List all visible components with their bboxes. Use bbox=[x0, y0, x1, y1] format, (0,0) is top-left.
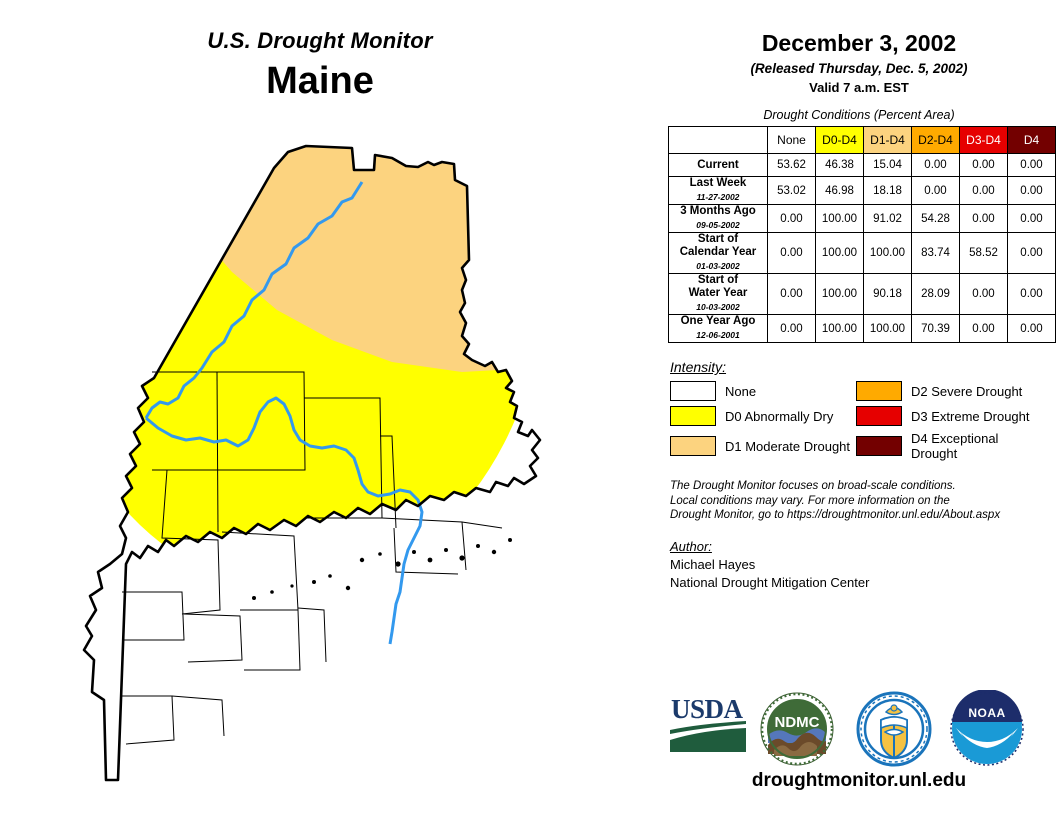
table-cell-value: 0.00 bbox=[1008, 154, 1056, 177]
table-cell-value: 0.00 bbox=[1008, 205, 1056, 233]
release-date: (Released Thursday, Dec. 5, 2002) bbox=[662, 61, 1056, 76]
row-date: 10-03-2002 bbox=[669, 301, 767, 314]
table-cell-value: 0.00 bbox=[960, 315, 1008, 343]
table-cell-value: 0.00 bbox=[1008, 177, 1056, 205]
noaa-logo: NOAA bbox=[948, 690, 1026, 768]
table-cell-value: 0.00 bbox=[768, 205, 816, 233]
table-body: Current53.6246.3815.040.000.000.00Last W… bbox=[669, 154, 1056, 343]
right-panel: December 3, 2002 (Released Thursday, Dec… bbox=[662, 0, 1056, 816]
legend-swatch bbox=[670, 381, 716, 401]
author-name: Michael Hayes bbox=[670, 557, 1056, 572]
legend-label: D0 Abnormally Dry bbox=[725, 409, 833, 424]
disclaimer-line-3: Drought Monitor, go to https://droughtmo… bbox=[670, 508, 1056, 523]
table-header-row: None D0-D4 D1-D4 D2-D4 D3-D4 D4 bbox=[669, 127, 1056, 154]
row-date: 09-05-2002 bbox=[669, 219, 767, 232]
legend-grid: NoneD2 Severe DroughtD0 Abnormally DryD3… bbox=[670, 381, 1056, 461]
disclaimer: The Drought Monitor focuses on broad-sca… bbox=[670, 479, 1056, 523]
legend-label: D3 Extreme Drought bbox=[911, 409, 1030, 424]
table-cell-value: 0.00 bbox=[768, 274, 816, 315]
table-cell-value: 90.18 bbox=[864, 274, 912, 315]
table-caption: Drought Conditions (Percent Area) bbox=[662, 108, 1056, 122]
table-cell-value: 15.04 bbox=[864, 154, 912, 177]
legend-item: None bbox=[670, 381, 856, 401]
table-cell-value: 100.00 bbox=[816, 274, 864, 315]
svg-text:NDMC: NDMC bbox=[775, 714, 820, 731]
table-row: One Year Ago12-06-20010.00100.00100.0070… bbox=[669, 315, 1056, 343]
table-cell-value: 28.09 bbox=[912, 274, 960, 315]
row-label: Last Week11-27-2002 bbox=[669, 177, 768, 205]
svg-text:NOAA: NOAA bbox=[968, 706, 1005, 720]
author-organization: National Drought Mitigation Center bbox=[670, 575, 1056, 590]
legend-item: D0 Abnormally Dry bbox=[670, 406, 856, 426]
table-cell-value: 53.62 bbox=[768, 154, 816, 177]
table-cell-value: 0.00 bbox=[1008, 315, 1056, 343]
table-cell-value: 0.00 bbox=[768, 233, 816, 274]
row-date: 12-06-2001 bbox=[669, 329, 767, 342]
table-cell-value: 100.00 bbox=[816, 205, 864, 233]
legend-title: Intensity: bbox=[670, 359, 1056, 375]
table-row: Start ofCalendar Year01-03-20020.00100.0… bbox=[669, 233, 1056, 274]
table-cell-value: 100.00 bbox=[816, 315, 864, 343]
row-label: Start ofCalendar Year01-03-2002 bbox=[669, 233, 768, 274]
row-date: 11-27-2002 bbox=[669, 191, 767, 204]
legend-swatch bbox=[670, 406, 716, 426]
state-title: Maine bbox=[0, 60, 640, 103]
legend-item: D4 Exceptional Drought bbox=[856, 431, 1042, 461]
header-spacer bbox=[669, 127, 768, 154]
table-cell-value: 18.18 bbox=[864, 177, 912, 205]
table-row: Start ofWater Year10-03-20020.00100.0090… bbox=[669, 274, 1056, 315]
row-label: Current bbox=[669, 154, 768, 177]
maine-map-svg bbox=[62, 140, 642, 800]
author-block: Author: Michael Hayes National Drought M… bbox=[670, 539, 1056, 590]
table-row: Current53.6246.3815.040.000.000.00 bbox=[669, 154, 1056, 177]
column-header-d1: D1-D4 bbox=[864, 127, 912, 154]
ndmc-logo: NDMC bbox=[758, 690, 836, 768]
table-cell-value: 0.00 bbox=[912, 154, 960, 177]
table-cell-value: 100.00 bbox=[864, 315, 912, 343]
table-cell-value: 0.00 bbox=[912, 177, 960, 205]
table-cell-value: 0.00 bbox=[768, 315, 816, 343]
legend-label: D1 Moderate Drought bbox=[725, 439, 850, 454]
disclaimer-line-2: Local conditions may vary. For more info… bbox=[670, 494, 1056, 509]
table-cell-value: 0.00 bbox=[960, 274, 1008, 315]
commerce-seal-logo bbox=[855, 690, 933, 768]
author-label: Author: bbox=[670, 539, 1056, 554]
row-date: 01-03-2002 bbox=[669, 260, 767, 273]
table-cell-value: 70.39 bbox=[912, 315, 960, 343]
column-header-none: None bbox=[768, 127, 816, 154]
row-label: 3 Months Ago09-05-2002 bbox=[669, 205, 768, 233]
table-cell-value: 0.00 bbox=[960, 205, 1008, 233]
svg-text:USDA: USDA bbox=[671, 694, 744, 724]
column-header-d0: D0-D4 bbox=[816, 127, 864, 154]
table-cell-value: 0.00 bbox=[1008, 233, 1056, 274]
table-cell-value: 0.00 bbox=[1008, 274, 1056, 315]
legend-item: D2 Severe Drought bbox=[856, 381, 1042, 401]
issue-date: December 3, 2002 bbox=[662, 30, 1056, 57]
legend-swatch bbox=[856, 381, 902, 401]
table-cell-value: 53.02 bbox=[768, 177, 816, 205]
table-cell-value: 46.38 bbox=[816, 154, 864, 177]
drought-map bbox=[62, 140, 642, 800]
drought-conditions-table: None D0-D4 D1-D4 D2-D4 D3-D4 D4 Current5… bbox=[668, 126, 1056, 343]
legend-item: D1 Moderate Drought bbox=[670, 431, 856, 461]
intensity-legend: Intensity: NoneD2 Severe DroughtD0 Abnor… bbox=[670, 359, 1056, 461]
disclaimer-line-1: The Drought Monitor focuses on broad-sca… bbox=[670, 479, 1056, 494]
legend-swatch bbox=[670, 436, 716, 456]
table-cell-value: 58.52 bbox=[960, 233, 1008, 274]
date-block: December 3, 2002 (Released Thursday, Dec… bbox=[662, 0, 1056, 95]
legend-item: D3 Extreme Drought bbox=[856, 406, 1042, 426]
table-cell-value: 91.02 bbox=[864, 205, 912, 233]
legend-label: D4 Exceptional Drought bbox=[911, 431, 1042, 461]
coastal-islands bbox=[252, 538, 512, 600]
usda-logo: USDA bbox=[668, 690, 750, 754]
table-row: 3 Months Ago09-05-20020.00100.0091.0254.… bbox=[669, 205, 1056, 233]
column-header-d4: D4 bbox=[1008, 127, 1056, 154]
site-url: droughtmonitor.unl.edu bbox=[662, 770, 1056, 792]
row-label: Start ofWater Year10-03-2002 bbox=[669, 274, 768, 315]
table-cell-value: 46.98 bbox=[816, 177, 864, 205]
title-block: U.S. Drought Monitor Maine bbox=[0, 28, 640, 103]
column-header-d3: D3-D4 bbox=[960, 127, 1008, 154]
legend-swatch bbox=[856, 406, 902, 426]
legend-label: D2 Severe Drought bbox=[911, 384, 1022, 399]
valid-time: Valid 7 a.m. EST bbox=[662, 80, 1056, 95]
table-cell-value: 100.00 bbox=[864, 233, 912, 274]
table-cell-value: 83.74 bbox=[912, 233, 960, 274]
program-title: U.S. Drought Monitor bbox=[0, 28, 640, 54]
logo-row: USDA NDMC bbox=[662, 690, 1056, 770]
table-row: Last Week11-27-200253.0246.9818.180.000.… bbox=[669, 177, 1056, 205]
table-cell-value: 0.00 bbox=[960, 154, 1008, 177]
table-cell-value: 0.00 bbox=[960, 177, 1008, 205]
column-header-d2: D2-D4 bbox=[912, 127, 960, 154]
legend-swatch bbox=[856, 436, 902, 456]
table-cell-value: 100.00 bbox=[816, 233, 864, 274]
legend-label: None bbox=[725, 384, 756, 399]
row-label: One Year Ago12-06-2001 bbox=[669, 315, 768, 343]
table-cell-value: 54.28 bbox=[912, 205, 960, 233]
